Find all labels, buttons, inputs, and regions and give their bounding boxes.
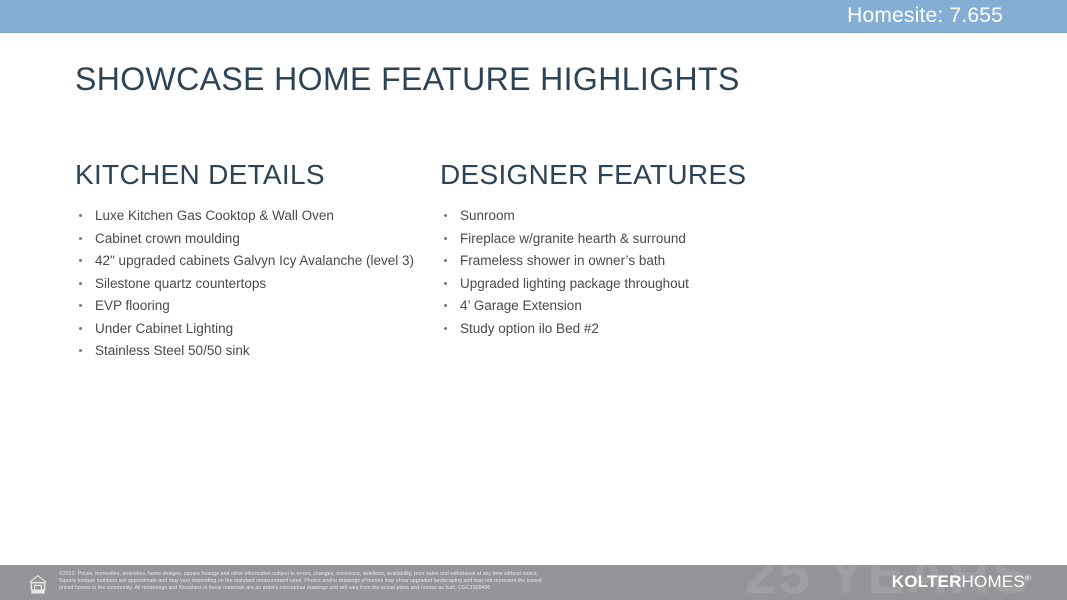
designer-features-heading: DESIGNER FEATURES [440,159,940,191]
list-item-label: Stainless Steel 50/50 sink [95,343,250,358]
bullet-icon [444,259,447,262]
list-item-label: Fireplace w/granite hearth & surround [460,231,686,246]
list-item: Cabinet crown moulding [75,232,440,246]
kitchen-details-column: KITCHEN DETAILS Luxe Kitchen Gas Cooktop… [0,159,440,367]
bullet-icon [444,304,447,307]
equal-housing-opportunity-icon [26,571,50,595]
homesite-label: Homesite: 7.655 [847,4,1067,28]
bullet-icon [79,282,82,285]
list-item: Luxe Kitchen Gas Cooktop & Wall Oven [75,209,440,223]
disclaimer-line: Square footage numbers are approximate a… [59,578,919,585]
feature-columns: KITCHEN DETAILS Luxe Kitchen Gas Cooktop… [0,159,1067,367]
disclaimer-line: priced homes in the community. All rende… [59,585,919,592]
slide-body: SHOWCASE HOME FEATURE HIGHLIGHTS KITCHEN… [0,34,1067,565]
list-item-label: 42" upgraded cabinets Galvyn Icy Avalanc… [95,253,414,268]
page-title: SHOWCASE HOME FEATURE HIGHLIGHTS [75,61,740,98]
list-item-label: Cabinet crown moulding [95,231,240,246]
disclaimer-line: ©2022. Prices, homesites, amenities, hom… [59,571,919,578]
bullet-icon [444,327,447,330]
list-item: Study option ilo Bed #2 [440,322,940,336]
bullet-icon [444,237,447,240]
list-item-label: Frameless shower in owner’s bath [460,253,665,268]
kitchen-details-heading: KITCHEN DETAILS [75,159,440,191]
list-item: Stainless Steel 50/50 sink [75,344,440,358]
list-item-label: Silestone quartz countertops [95,276,266,291]
list-item-label: 4’ Garage Extension [460,298,582,313]
list-item-label: EVP flooring [95,298,170,313]
list-item: EVP flooring [75,299,440,313]
bullet-icon [79,214,82,217]
bullet-icon [79,259,82,262]
list-item: Fireplace w/granite hearth & surround [440,232,940,246]
kolter-homes-logo: KOLTERHOMES® [892,572,1031,592]
list-item: Under Cabinet Lighting [75,322,440,336]
header-bar: Homesite: 7.655 [0,0,1067,33]
bullet-icon [79,237,82,240]
designer-features-list: Sunroom Fireplace w/granite hearth & sur… [440,209,940,336]
list-item-label: Upgraded lighting package throughout [460,276,689,291]
logo-bold-part: KOLTER [892,572,962,591]
list-item: Silestone quartz countertops [75,277,440,291]
legal-disclaimer: ©2022. Prices, homesites, amenities, hom… [59,571,919,592]
list-item-label: Under Cabinet Lighting [95,321,233,336]
kitchen-details-list: Luxe Kitchen Gas Cooktop & Wall Oven Cab… [75,209,440,358]
list-item-label: Sunroom [460,208,515,223]
bullet-icon [79,349,82,352]
list-item-label: Study option ilo Bed #2 [460,321,599,336]
bullet-icon [79,327,82,330]
list-item: Frameless shower in owner’s bath [440,254,940,268]
designer-features-column: DESIGNER FEATURES Sunroom Fireplace w/gr… [440,159,940,367]
logo-light-part: HOMES [962,572,1025,591]
registered-trademark-icon: ® [1025,573,1031,582]
bullet-icon [444,214,447,217]
list-item: 4’ Garage Extension [440,299,940,313]
list-item: Sunroom [440,209,940,223]
bullet-icon [79,304,82,307]
bullet-icon [444,282,447,285]
list-item-label: Luxe Kitchen Gas Cooktop & Wall Oven [95,208,334,223]
list-item: Upgraded lighting package throughout [440,277,940,291]
list-item: 42" upgraded cabinets Galvyn Icy Avalanc… [75,254,440,268]
